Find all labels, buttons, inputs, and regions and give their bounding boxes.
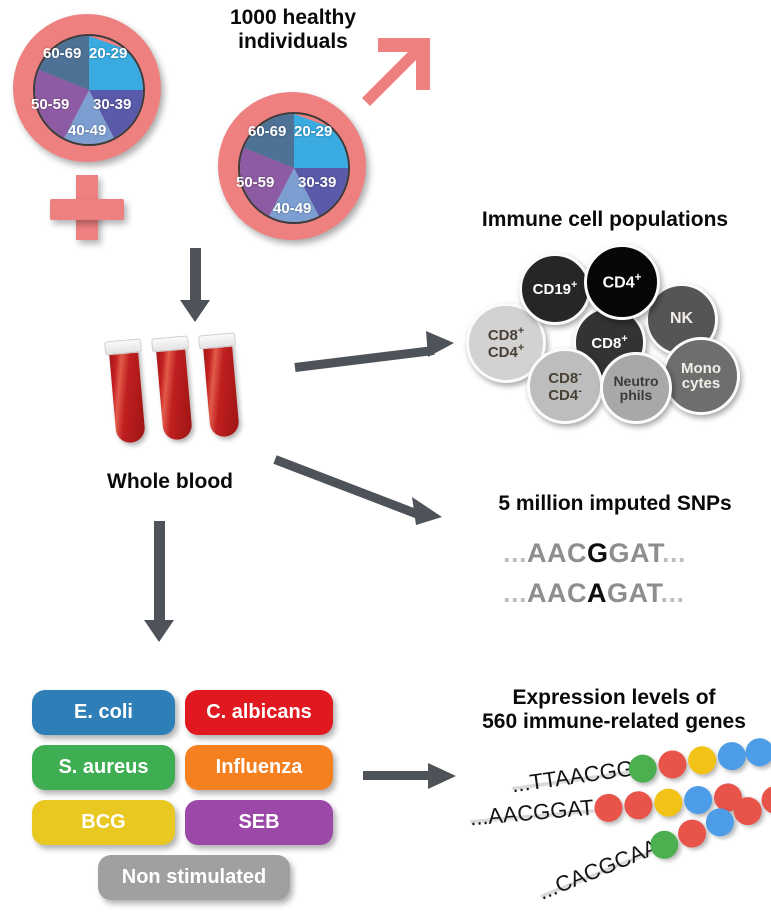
pie-label-50-59-male: 50-59 — [236, 174, 274, 191]
snp-prefix: ... — [503, 578, 527, 608]
expression-bead — [657, 749, 689, 781]
snp-left: AAC — [527, 538, 587, 568]
expression-bead — [744, 736, 771, 768]
snp-variant: A — [587, 578, 607, 608]
tube-body — [109, 347, 146, 444]
snp-suffix: ... — [662, 538, 686, 568]
cell-cd19pos: CD19+ — [519, 253, 591, 325]
stimulus-label: Non stimulated — [122, 866, 266, 889]
stimulus-label: Influenza — [216, 756, 303, 779]
arrow-shaft — [294, 346, 434, 372]
snp-variant: G — [587, 538, 609, 568]
arrow-shaft — [273, 455, 421, 519]
blood-tube — [155, 336, 192, 433]
tube-body — [203, 341, 240, 438]
expression-title-line1: Expression levels of — [512, 686, 715, 709]
pie-label-40-49-female: 40-49 — [68, 122, 106, 139]
snp-right: GAT — [607, 578, 661, 608]
snp-right: GAT — [609, 538, 663, 568]
tube-body — [156, 344, 193, 441]
expression-bead — [593, 793, 623, 823]
snp-row: ...AACGGAT... — [503, 538, 686, 569]
pie-label-30-39-female: 30-39 — [93, 96, 131, 113]
arrow-head — [424, 329, 456, 359]
arrow-head — [427, 761, 457, 791]
snp-suffix: ... — [661, 578, 685, 608]
blood-tube — [202, 333, 239, 430]
pie-label-30-39-male: 30-39 — [298, 174, 336, 191]
cell-monocytes: Mono cytes — [662, 337, 740, 415]
expression-bead — [623, 790, 653, 820]
stimulus-bcg[interactable]: BCG — [32, 800, 175, 845]
stimulus-label: S. aureus — [58, 756, 148, 779]
arrow-head — [144, 620, 174, 642]
pie-label-60-69-male: 60-69 — [248, 123, 286, 140]
pie-label-20-29-male: 20-29 — [294, 123, 332, 140]
stimulus-influenza[interactable]: Influenza — [185, 745, 333, 790]
whole-blood-label: Whole blood — [85, 470, 255, 494]
pie-label-60-69-female: 60-69 — [43, 45, 81, 62]
arrow-shaft — [363, 771, 430, 780]
expression-bead — [653, 787, 683, 817]
snp-prefix: ... — [503, 538, 527, 568]
cell-neutrophils: Neutro phils — [600, 352, 672, 424]
expression-bead — [686, 744, 718, 776]
snps-title: 5 million imputed SNPs — [470, 492, 760, 516]
cell-cd4pos: CD4+ — [584, 244, 660, 320]
stimulus-c-albicans[interactable]: C. albicans — [185, 690, 333, 735]
stimulus-label: SEB — [238, 811, 279, 834]
stimulus-label: BCG — [81, 811, 125, 834]
stimulus-label: E. coli — [74, 701, 133, 724]
snp-row: ...AACAGAT... — [503, 578, 685, 609]
pie-label-50-59-female: 50-59 — [31, 96, 69, 113]
female-crossbar — [50, 199, 124, 220]
strand-sequence: ...CACGCAA — [535, 834, 663, 906]
pie-label-40-49-male: 40-49 — [273, 200, 311, 217]
stimulus-e-coli[interactable]: E. coli — [32, 690, 175, 735]
snp-left: AAC — [527, 578, 587, 608]
expression-bead — [716, 740, 748, 772]
strand-sequence: ...AACGGAT — [469, 795, 595, 832]
arrow-head — [410, 495, 444, 529]
stimulus-s-aureus[interactable]: S. aureus — [32, 745, 175, 790]
pie-label-20-29-female: 20-29 — [89, 45, 127, 62]
arrow-shaft — [154, 521, 165, 624]
cell-cd8neg-cd4neg: CD8- CD4- — [527, 348, 603, 424]
expression-title: Expression levels of 560 immune-related … — [460, 686, 768, 733]
blood-tube — [108, 339, 145, 436]
immune-title: Immune cell populations — [455, 208, 755, 232]
arrow-head — [180, 300, 210, 322]
stimulus-label: C. albicans — [206, 701, 312, 724]
expression-title-line2: 560 immune-related genes — [482, 710, 746, 733]
stimulus-non-stimulated[interactable]: Non stimulated — [98, 855, 290, 900]
stimulus-seb[interactable]: SEB — [185, 800, 333, 845]
diagram-canvas: 1000 healthy individuals 60-69 20-29 30-… — [0, 0, 771, 922]
arrow-shaft — [190, 248, 201, 306]
